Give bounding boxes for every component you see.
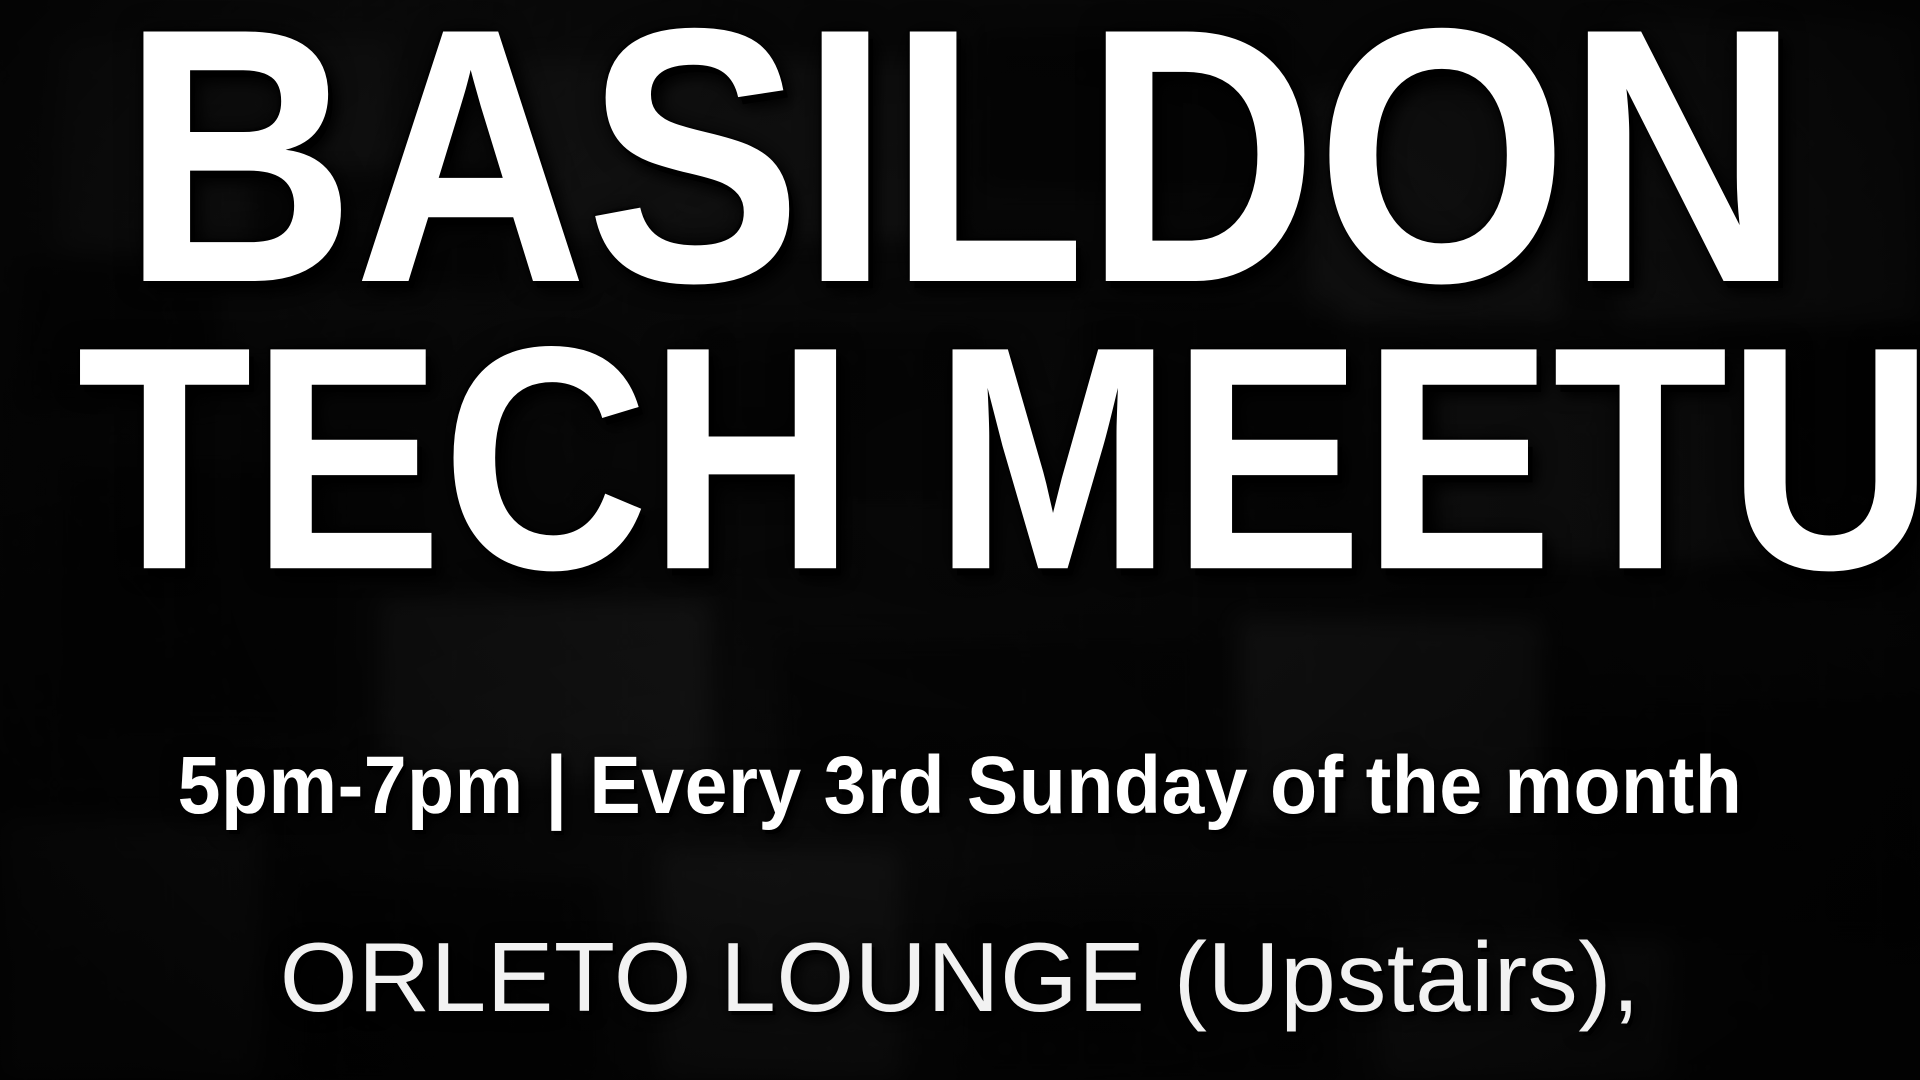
poster-canvas: BASILDON TECH MEETUP 5pm-7pm | Every 3rd…: [0, 0, 1920, 1080]
poster-title-line-2: TECH MEETUP: [77, 300, 1843, 618]
poster-schedule-text: 5pm-7pm | Every 3rd Sunday of the month: [58, 740, 1863, 832]
poster-content: BASILDON TECH MEETUP 5pm-7pm | Every 3rd…: [0, 0, 1920, 1080]
poster-venue-text: ORLETO LOUNGE (Upstairs),: [0, 920, 1920, 1036]
